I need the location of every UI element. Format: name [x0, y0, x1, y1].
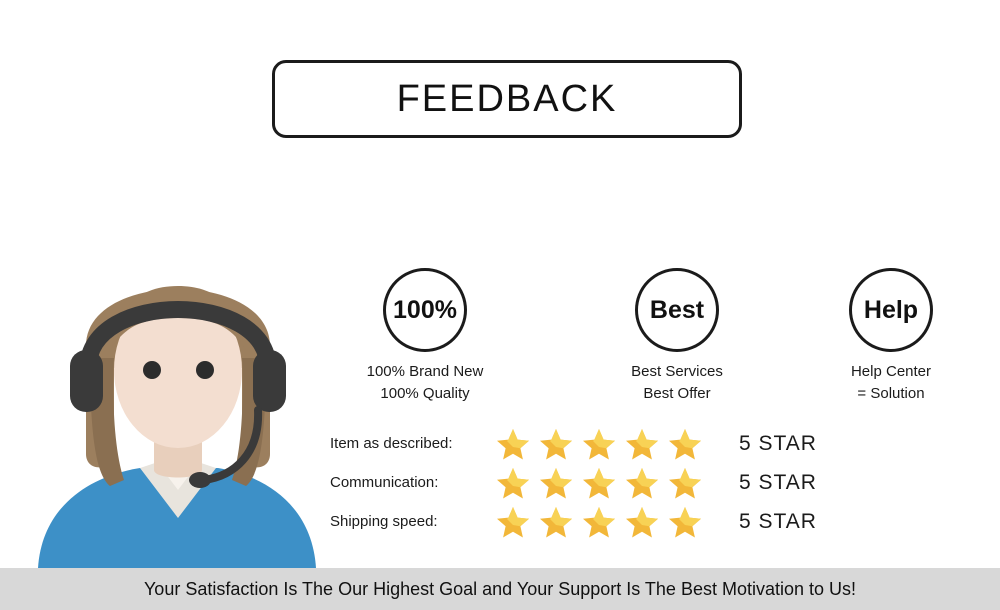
star-icon [667, 505, 703, 539]
rating-row: Shipping speed: 5 STAR [330, 502, 970, 541]
rating-value-communication: 5 STAR [721, 471, 817, 495]
badge-quality-lines: 100% Brand New 100% Quality [330, 361, 520, 405]
star-icon [624, 466, 660, 500]
star-icon [495, 427, 531, 461]
customer-service-agent-illustration [28, 218, 318, 568]
badge-quality-line1: 100% Brand New [330, 361, 520, 383]
star-icon [495, 466, 531, 500]
badge-help-circle-label: Help [864, 296, 918, 325]
rating-label-item-as-described: Item as described: [330, 435, 495, 452]
star-icon [667, 427, 703, 461]
star-icon [538, 505, 574, 539]
rating-row: Communication: 5 STAR [330, 463, 970, 502]
star-icon [581, 427, 617, 461]
rating-stars-shipping-speed [495, 505, 721, 539]
star-icon [581, 466, 617, 500]
badge-quality-circle-label: 100% [393, 296, 457, 325]
footer-message: Your Satisfaction Is The Our Highest Goa… [144, 579, 856, 600]
badge-quality-line2: 100% Quality [330, 383, 520, 405]
badge-help-line2: = Solution [796, 383, 986, 405]
badge-quality-circle: 100% [383, 268, 467, 352]
star-icon [581, 505, 617, 539]
badge-service-line2: Best Offer [582, 383, 772, 405]
badge-service-circle: Best [635, 268, 719, 352]
badge-help-lines: Help Center = Solution [796, 361, 986, 405]
rating-label-shipping-speed: Shipping speed: [330, 513, 495, 530]
rating-label-communication: Communication: [330, 474, 495, 491]
rating-stars-item-as-described [495, 427, 721, 461]
star-icon [538, 466, 574, 500]
rating-stars-communication [495, 466, 721, 500]
footer-bar: Your Satisfaction Is The Our Highest Goa… [0, 568, 1000, 610]
ratings-list: Item as described: 5 STAR Communication:… [330, 424, 970, 541]
badge-group: 100% 100% Brand New 100% Quality Best Be… [330, 268, 970, 408]
rating-value-shipping-speed: 5 STAR [721, 510, 817, 534]
star-icon [667, 466, 703, 500]
badge-help-line1: Help Center [796, 361, 986, 383]
star-icon [624, 427, 660, 461]
badge-service: Best Best Services Best Offer [582, 268, 772, 405]
rating-row: Item as described: 5 STAR [330, 424, 970, 463]
star-icon [624, 505, 660, 539]
badge-service-lines: Best Services Best Offer [582, 361, 772, 405]
page-title: FEEDBACK [397, 78, 618, 121]
feedback-banner: FEEDBACK [0, 0, 1000, 610]
badge-service-circle-label: Best [650, 296, 704, 325]
star-icon [538, 427, 574, 461]
rating-value-item-as-described: 5 STAR [721, 432, 817, 456]
badge-service-line1: Best Services [582, 361, 772, 383]
badge-quality: 100% 100% Brand New 100% Quality [330, 268, 520, 405]
badge-help-circle: Help [849, 268, 933, 352]
title-box: FEEDBACK [272, 60, 742, 138]
badge-help: Help Help Center = Solution [796, 268, 986, 405]
star-icon [495, 505, 531, 539]
